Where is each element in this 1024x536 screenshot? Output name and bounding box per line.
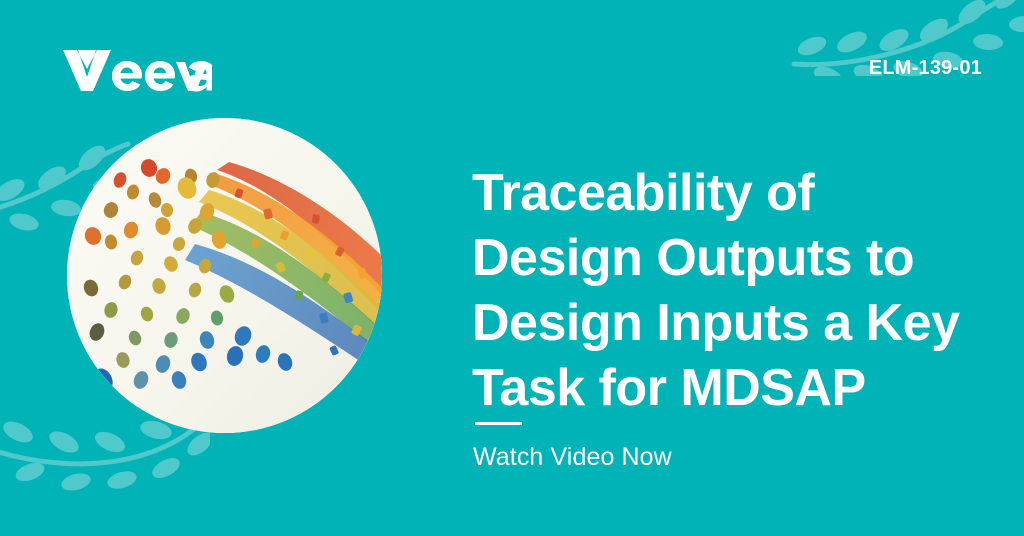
confetti-photo [67,118,382,433]
headline-line-3: Design Inputs a Key [472,291,1012,356]
watch-video-now-link[interactable]: Watch Video Now [473,443,672,472]
cta-divider-rule [475,422,522,425]
document-id-label: ELM-139-01 [869,57,982,80]
page-title: Traceability of Design Outputs to Design… [472,161,1012,421]
headline-line-1: Traceability of [472,161,1012,226]
headline-line-2: Design Outputs to [472,226,1012,291]
veeva-logo[interactable] [62,47,212,93]
headline-line-4: Task for MDSAP [472,356,1012,421]
slide-canvas: ELM-139-01 [0,0,1024,536]
hero-image-circle [67,118,382,433]
